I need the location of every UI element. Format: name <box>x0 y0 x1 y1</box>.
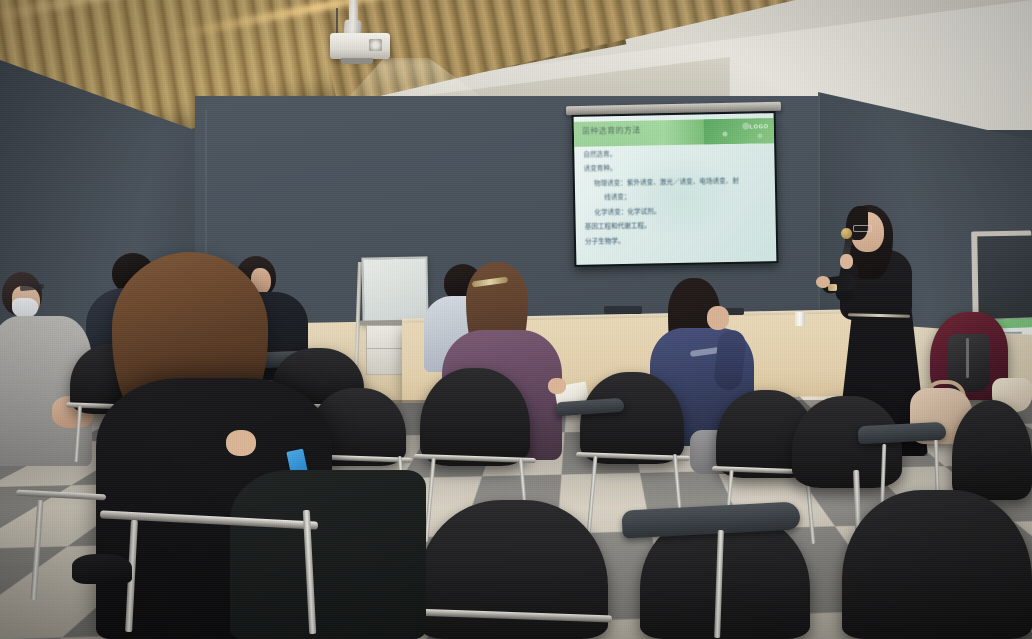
slide-bullet: 自然选育。 <box>583 149 768 159</box>
handbag-zipper <box>966 338 969 378</box>
presenter-hand-left <box>816 276 830 288</box>
slide-bullet: 分子生物学。 <box>585 236 770 246</box>
chair <box>420 368 530 466</box>
slide-bullet: 物理诱变：紫外诱变、激光／诱变、电场诱变、射 <box>594 178 769 188</box>
slide-title: 菌种选育的方法 <box>582 125 641 137</box>
slide-header-decoration <box>704 118 774 144</box>
slide-bullet: 化学诱变：化学试剂。 <box>594 207 769 217</box>
face-mask-icon <box>12 298 38 318</box>
whiteboard <box>361 256 428 324</box>
lecture-hall-photo: 菌种选育的方法 LOGO 自然选育。 诱变育种。 物理诱变：紫外诱变、激光／诱变… <box>0 0 1032 639</box>
wristwatch-icon <box>828 284 837 291</box>
podium-object <box>604 306 642 314</box>
attendee-hand <box>548 378 566 394</box>
attendee-hand <box>707 306 729 330</box>
chair <box>842 490 1032 639</box>
slide-bullet: 诱变育种。 <box>584 164 769 174</box>
projection-screen-surface: 菌种选育的方法 LOGO 自然选育。 诱变育种。 物理诱变：紫外诱变、激光／诱变… <box>574 113 777 265</box>
presenter-hand-right <box>840 254 853 269</box>
projector-foot <box>341 58 373 64</box>
slide-bullet: 基因工程和代谢工程。 <box>585 221 770 231</box>
paper-cup <box>795 312 805 326</box>
projector-lens <box>369 39 382 51</box>
chair <box>580 372 684 464</box>
glasses-icon <box>853 225 872 232</box>
slide-bullet: 线诱变； <box>604 192 769 202</box>
slide-logo: LOGO <box>749 124 769 130</box>
slide-bullet-list: 自然选育。 诱变育种。 物理诱变：紫外诱变、激光／诱变、电场诱变、射 线诱变； … <box>583 149 770 259</box>
microphone-head <box>841 228 852 239</box>
projection-screen: 菌种选育的方法 LOGO 自然选育。 诱变育种。 物理诱变：紫外诱变、激光／诱变… <box>572 111 779 267</box>
shoe <box>72 554 132 584</box>
